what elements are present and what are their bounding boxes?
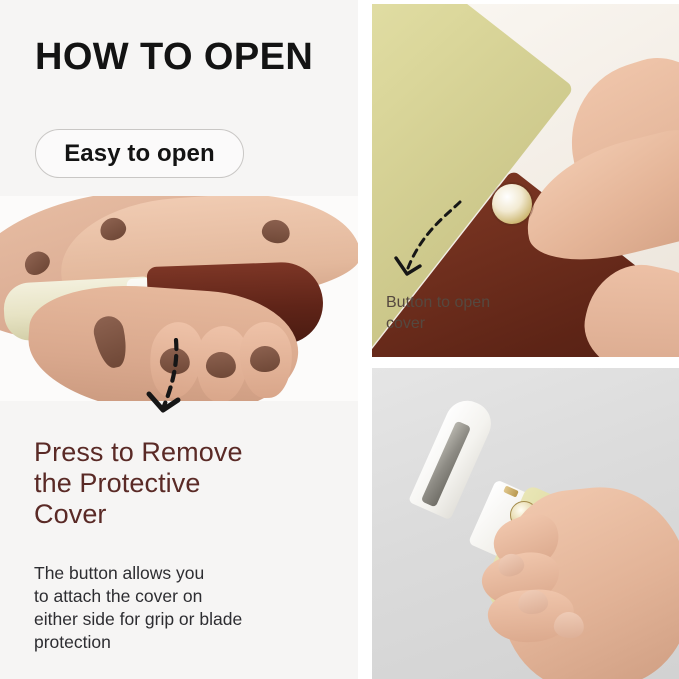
right-bottom-photo-panel [372, 368, 679, 679]
caption-line: cover [386, 313, 566, 334]
body-line: either side for grip or blade [34, 608, 334, 631]
dashed-arrow-down-icon [386, 196, 466, 296]
infographic-board: HOW TO OPEN Easy to open [0, 0, 679, 679]
section-subheading: Press to Remove the Protective Cover [34, 437, 324, 530]
caption-line: Button to open [386, 292, 566, 313]
status-badge: Easy to open [35, 129, 244, 178]
dashed-arrow-down-left-icon [138, 338, 210, 428]
subheading-line: Cover [34, 499, 324, 530]
page-title: HOW TO OPEN [35, 36, 313, 79]
left-panel: HOW TO OPEN Easy to open [0, 0, 358, 679]
body-line: protection [34, 631, 334, 654]
body-line: The button allows you [34, 562, 334, 585]
subheading-line: the Protective [34, 468, 324, 499]
right-photo-caption: Button to open cover [386, 292, 566, 334]
peeler-release-button [492, 184, 532, 224]
status-badge-label: Easy to open [64, 140, 215, 168]
body-line: to attach the cover on [34, 585, 334, 608]
body-paragraph: The button allows you to attach the cove… [34, 562, 334, 654]
subheading-line: Press to Remove [34, 437, 324, 468]
fingernail [250, 345, 281, 372]
